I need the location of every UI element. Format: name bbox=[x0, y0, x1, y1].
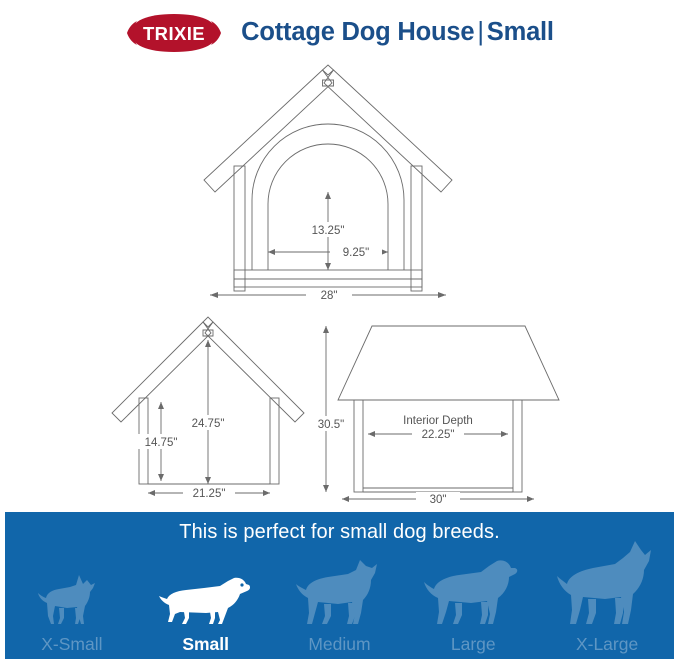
size-label-x-small: X-Small bbox=[41, 634, 102, 656]
dim-peak-height-label: 24.75" bbox=[192, 418, 225, 430]
trixie-logo: TRIXIE bbox=[125, 10, 223, 56]
dim-arrow-ph-up bbox=[323, 326, 329, 333]
size-option-x-small[interactable]: X-Small bbox=[9, 548, 134, 656]
side-ridge-cap bbox=[203, 317, 213, 327]
size-option-medium[interactable]: Medium bbox=[277, 548, 402, 656]
page-title-variant: Small bbox=[487, 18, 554, 46]
dim-arrow-pw-left bbox=[342, 496, 349, 502]
size-label-medium: Medium bbox=[308, 634, 370, 656]
dim-persp-width-label: 30" bbox=[430, 494, 447, 506]
dog-great-dane-icon bbox=[555, 552, 659, 630]
dim-arrow-side-right bbox=[263, 490, 270, 496]
size-option-small[interactable]: Small bbox=[143, 548, 268, 656]
dim-interior-depth-label: 22.25" bbox=[422, 429, 455, 441]
size-scale: X-Small Small M bbox=[5, 546, 674, 656]
side-roof-right bbox=[205, 322, 304, 422]
persp-post-left bbox=[354, 400, 363, 492]
dim-arrow-down bbox=[325, 263, 331, 270]
dim-arrow-wall-down bbox=[158, 474, 164, 481]
dim-arrow-ph-down bbox=[323, 485, 329, 492]
base-board-lower bbox=[234, 279, 422, 287]
dim-arrow-side-left bbox=[148, 490, 155, 496]
perspective-view-diagram: 30.5" Interior Depth 22.25" 30" bbox=[312, 310, 572, 505]
dog-dachshund-icon bbox=[158, 552, 253, 630]
size-recommendation-banner: This is perfect for small dog breeds. X-… bbox=[5, 512, 674, 659]
trixie-logo-text: TRIXIE bbox=[143, 23, 205, 44]
roof-right bbox=[324, 70, 452, 192]
dim-wall-height-label: 14.75" bbox=[145, 437, 178, 449]
post-right bbox=[411, 166, 422, 291]
roof-left bbox=[204, 70, 332, 192]
size-label-small: Small bbox=[182, 634, 229, 656]
base-board-upper bbox=[234, 270, 422, 279]
page-header: TRIXIE Cottage Dog House|Small bbox=[0, 0, 679, 62]
page-title-divider: | bbox=[474, 18, 486, 46]
dim-overall-width-label: 28" bbox=[321, 290, 338, 302]
post-left bbox=[234, 166, 245, 291]
dim-arrow-id-right bbox=[501, 431, 508, 437]
front-view-diagram: 13.25" 9.25" 28" bbox=[196, 62, 460, 302]
dim-door-height-label: 13.25" bbox=[312, 225, 345, 237]
dog-terrier-icon bbox=[294, 552, 384, 630]
size-option-large[interactable]: Large bbox=[411, 548, 536, 656]
dim-arrow-right bbox=[381, 249, 388, 255]
page-title: Cottage Dog House|Small bbox=[241, 20, 554, 46]
dim-side-width-label: 21.25" bbox=[193, 488, 226, 500]
perspective-view-drawing: 30.5" Interior Depth 22.25" 30" bbox=[312, 310, 572, 505]
persp-post-right bbox=[513, 400, 522, 492]
dim-door-width-label: 9.25" bbox=[343, 247, 369, 259]
dim-arrow-w-right bbox=[438, 292, 446, 298]
interior-depth-label: Interior Depth bbox=[403, 415, 473, 427]
size-label-large: Large bbox=[451, 634, 496, 656]
dog-chihuahua-icon bbox=[35, 552, 109, 630]
dog-labrador-icon bbox=[423, 552, 523, 630]
dim-arrow-w-left bbox=[210, 292, 218, 298]
dim-arrow-id-left bbox=[368, 431, 375, 437]
dim-arrow-left bbox=[268, 249, 275, 255]
size-label-x-large: X-Large bbox=[576, 634, 638, 656]
dim-arrow-peak-down bbox=[205, 477, 211, 484]
trixie-logo-mark: TRIXIE bbox=[125, 10, 223, 56]
diagram-area: 13.25" 9.25" 28" bbox=[0, 62, 679, 505]
size-option-x-large[interactable]: X-Large bbox=[545, 548, 670, 656]
front-view-drawing: 13.25" 9.25" 28" bbox=[196, 62, 460, 302]
roof-ridge-cap bbox=[323, 65, 334, 75]
side-post-right bbox=[270, 398, 279, 484]
dim-arrow-up bbox=[325, 192, 331, 199]
dim-arrow-peak-up bbox=[205, 340, 211, 347]
side-view-diagram: 24.75" 14.75" 21.25" bbox=[96, 310, 322, 505]
page-title-main: Cottage Dog House bbox=[241, 18, 474, 46]
dim-persp-height-label: 30.5" bbox=[318, 419, 344, 431]
side-view-drawing: 24.75" 14.75" 21.25" bbox=[96, 310, 322, 505]
persp-roof bbox=[338, 326, 559, 400]
dim-arrow-wall-up bbox=[158, 402, 164, 409]
dim-arrow-pw-right bbox=[527, 496, 534, 502]
